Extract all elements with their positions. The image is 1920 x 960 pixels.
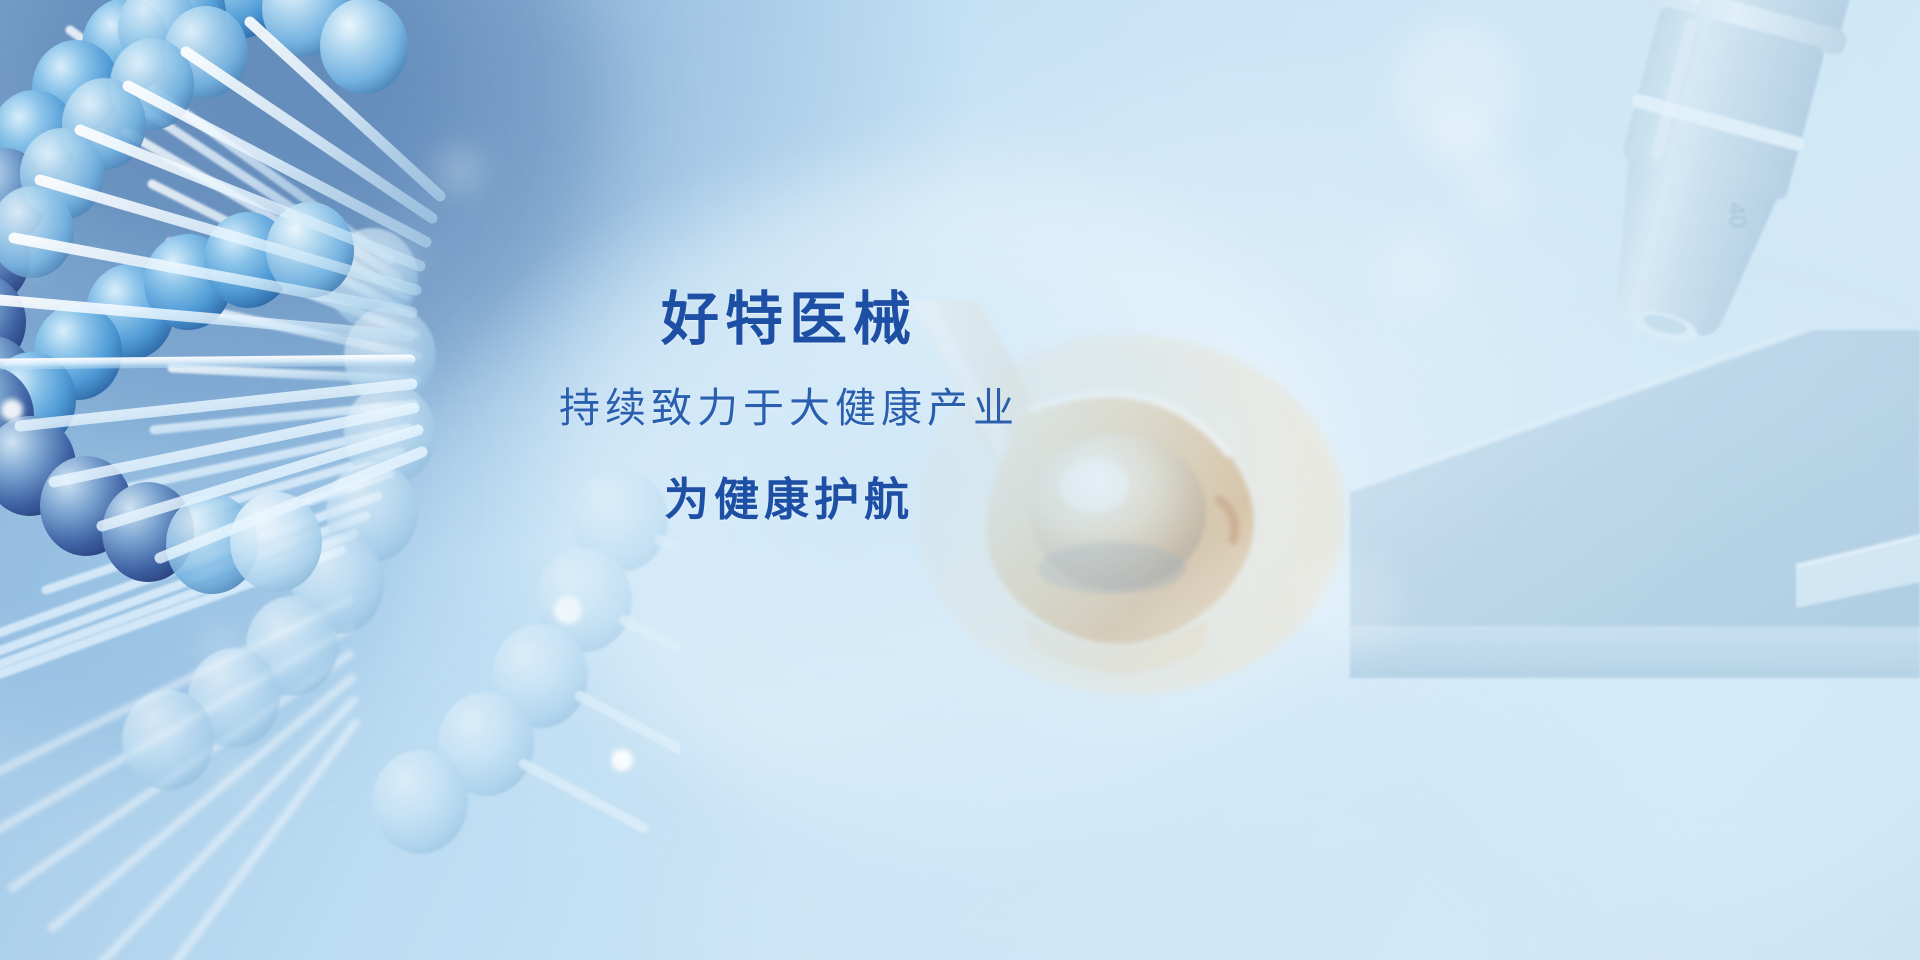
hero-subtitle: 持续致力于大健康产业: [559, 386, 1019, 431]
hero-tagline: 为健康护航: [664, 475, 914, 525]
hero-copy: 好特医械 持续致力于大健康产业 为健康护航: [0, 288, 1578, 524]
hero-banner: 40: [0, 0, 1920, 960]
bokeh-dot-2: [1432, 110, 1496, 174]
microscope-magnification-label: 40: [1724, 202, 1751, 229]
page-title: 好特医械: [661, 288, 917, 352]
